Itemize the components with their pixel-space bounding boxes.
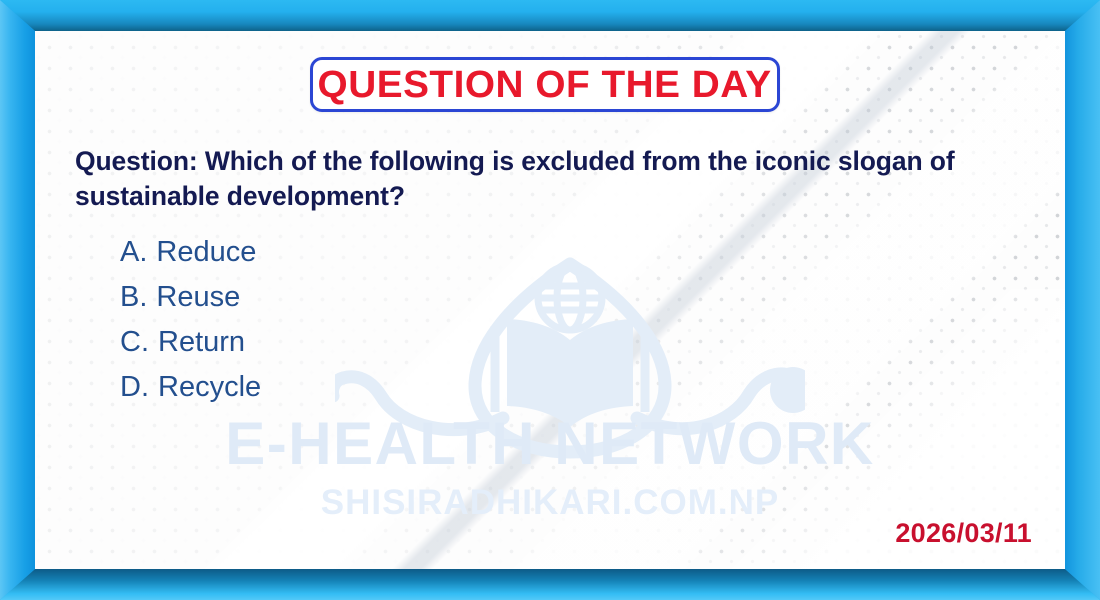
answer-option-a-letter: A.	[120, 236, 147, 268]
answer-option-d-letter: D.	[120, 371, 149, 403]
watermark-url: SHISIRADHIKARI.COM.NP	[35, 483, 1065, 523]
page-title: QUESTION OF THE DAY	[318, 66, 772, 104]
frame-edge-right	[1065, 0, 1100, 600]
frame-edge-left	[0, 0, 35, 600]
answer-option-d-label: Recycle	[158, 371, 261, 403]
question-text: Question: Which of the following is excl…	[75, 144, 996, 213]
answer-option-a-label: Reduce	[156, 236, 256, 268]
answer-option-d[interactable]: D.Recycle	[120, 373, 261, 402]
answer-option-b[interactable]: B.Reuse	[120, 283, 261, 312]
question-card: E-HEALTH NETWORK SHISIRADHIKARI.COM.NP Q…	[35, 31, 1065, 569]
watermark-brand: E-HEALTH NETWORK	[35, 409, 1065, 478]
answer-option-c-letter: C.	[120, 326, 149, 358]
answer-option-a[interactable]: A.Reduce	[120, 238, 261, 267]
answer-option-b-letter: B.	[120, 281, 147, 313]
answer-option-b-label: Reuse	[156, 281, 240, 313]
answer-option-c[interactable]: C.Return	[120, 328, 261, 357]
publish-date: 2026/03/11	[895, 518, 1032, 549]
answer-option-c-label: Return	[158, 326, 245, 358]
answer-options-list: A.Reduce B.Reuse C.Return D.Recycle	[120, 238, 261, 418]
question-of-the-day-banner: QUESTION OF THE DAY	[310, 57, 780, 112]
frame-edge-top	[0, 0, 1100, 31]
outer-blue-frame: E-HEALTH NETWORK SHISIRADHIKARI.COM.NP Q…	[0, 0, 1100, 600]
frame-edge-bottom	[0, 569, 1100, 600]
